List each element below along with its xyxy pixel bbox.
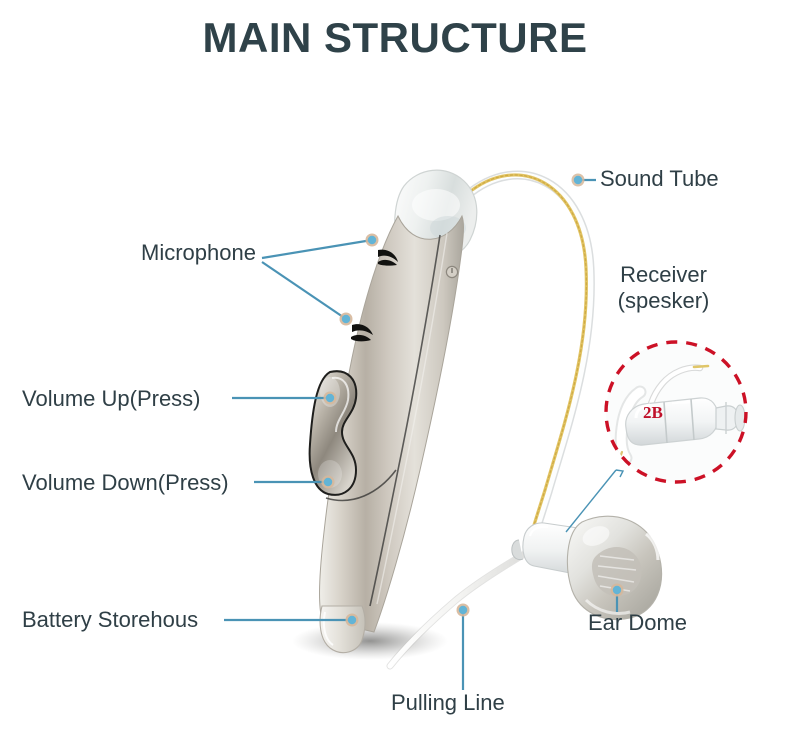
battery-compartment xyxy=(320,606,365,653)
label-volume-up: Volume Up(Press) xyxy=(22,386,201,412)
label-microphone: Microphone xyxy=(141,240,256,266)
inset-dashed-circle xyxy=(606,342,746,482)
label-receiver-line1: Receiver xyxy=(600,262,727,288)
receiver-and-ear-dome xyxy=(512,516,662,619)
leader-microphone-b xyxy=(262,262,346,319)
device-shadow xyxy=(292,622,448,660)
pulling-line-graphic xyxy=(390,552,528,666)
program-port xyxy=(446,266,457,277)
hearing-aid-body xyxy=(310,170,477,652)
label-receiver-line2: (spesker) xyxy=(600,288,727,314)
hearing-aid-illustration: 2B xyxy=(0,0,790,750)
label-pulling-line: Pulling Line xyxy=(391,690,505,716)
leader-dots xyxy=(322,174,624,627)
microphone-port-lower xyxy=(351,324,373,341)
diagram-canvas: MAIN STRUCTURE xyxy=(0,0,790,750)
inset-connector-line xyxy=(566,470,616,532)
device-shell xyxy=(320,216,464,632)
inset-badge-2b: 2B xyxy=(643,403,663,422)
microphone-port-upper xyxy=(378,250,398,266)
receiver-closeup-inset: 2B xyxy=(566,342,746,532)
ear-dome xyxy=(567,516,661,619)
label-receiver: Receiver (spesker) xyxy=(600,262,727,314)
label-battery-storehous: Battery Storehous xyxy=(22,607,198,633)
receiver-body xyxy=(523,523,593,573)
label-sound-tube: Sound Tube xyxy=(600,166,719,192)
leader-lines xyxy=(224,180,617,690)
page-title: MAIN STRUCTURE xyxy=(0,14,790,62)
leader-microphone-a xyxy=(262,240,372,258)
label-ear-dome: Ear Dome xyxy=(588,610,687,636)
sound-tube-graphic xyxy=(466,175,590,552)
volume-rocker xyxy=(310,371,357,495)
label-volume-down: Volume Down(Press) xyxy=(22,470,229,496)
device-tip xyxy=(395,170,477,260)
